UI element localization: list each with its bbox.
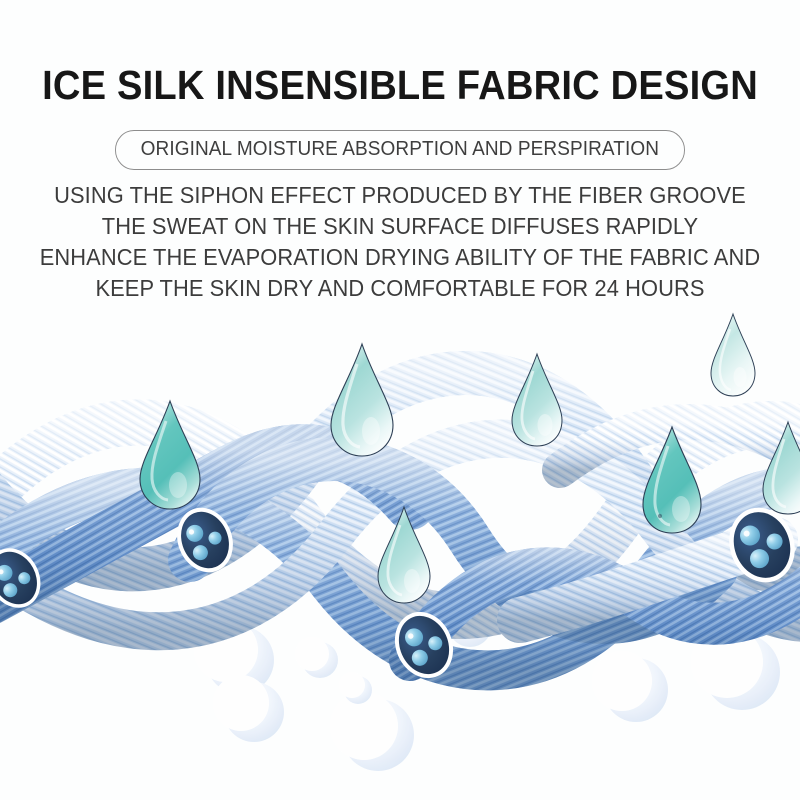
fiber-illustration bbox=[0, 0, 800, 800]
droplet-center-left bbox=[331, 344, 393, 456]
subtitle-pill: ORIGINAL MOISTURE ABSORPTION AND PERSPIR… bbox=[115, 130, 685, 170]
body-line-3: ENHANCE THE EVAPORATION DRYING ABILITY O… bbox=[20, 242, 780, 273]
body-line-2: THE SWEAT ON THE SKIN SURFACE DIFFUSES R… bbox=[20, 211, 780, 242]
droplet-right-top bbox=[711, 314, 755, 396]
body-line-4: KEEP THE SKIN DRY AND COMFORTABLE FOR 24… bbox=[20, 273, 780, 304]
body-copy: USING THE SIPHON EFFECT PRODUCED BY THE … bbox=[0, 180, 800, 304]
subtitle-pill-wrapper: ORIGINAL MOISTURE ABSORPTION AND PERSPIR… bbox=[0, 130, 800, 170]
poster-canvas: ICE SILK INSENSIBLE FABRIC DESIGN ORIGIN… bbox=[0, 0, 800, 800]
page-title: ICE SILK INSENSIBLE FABRIC DESIGN bbox=[28, 62, 772, 108]
body-line-1: USING THE SIPHON EFFECT PRODUCED BY THE … bbox=[20, 180, 780, 211]
